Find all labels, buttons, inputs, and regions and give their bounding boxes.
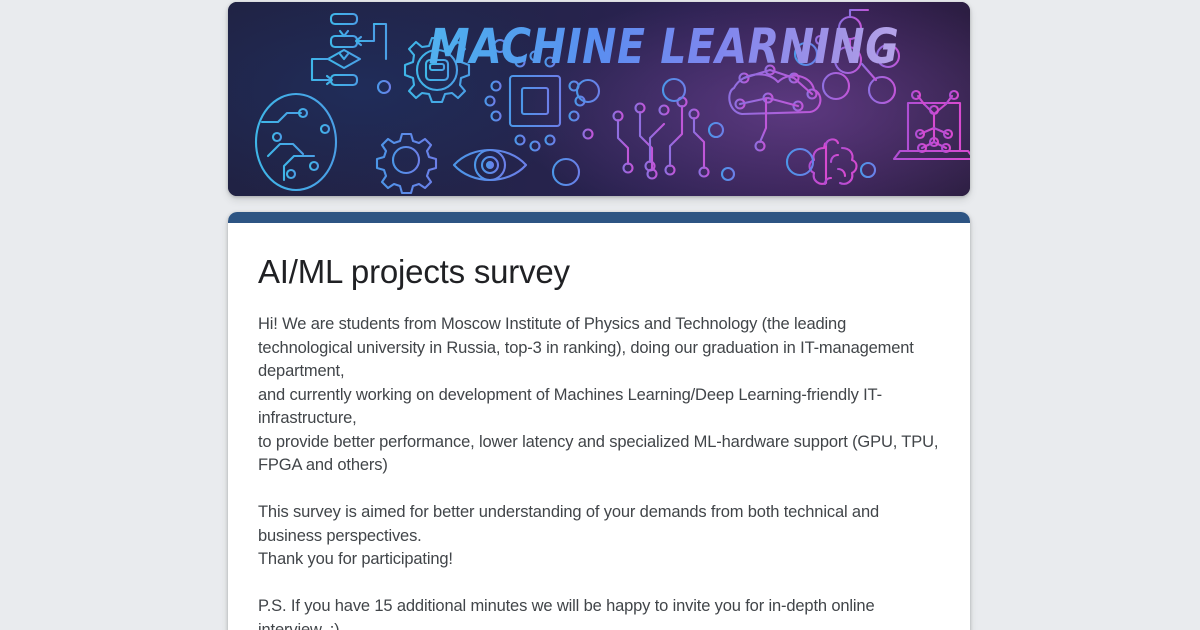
page-title: AI/ML projects survey [258, 251, 940, 293]
page-stage: MACHINE LEARNING AI/ML projects survey H… [0, 0, 1200, 630]
circuit-trace-icon [584, 98, 709, 179]
banner-background: MACHINE LEARNING [228, 2, 970, 196]
laptop-neural-network-icon [894, 91, 970, 159]
brain-icon [810, 139, 857, 187]
google-form-card: AI/ML projects survey Hi! We are student… [228, 212, 970, 630]
gear-icon [377, 134, 436, 193]
eye-scan-icon [454, 150, 526, 180]
banner-headline: MACHINE LEARNING [228, 18, 970, 75]
form-header-banner: MACHINE LEARNING [228, 2, 970, 196]
network-globe-icon [256, 94, 336, 190]
form-card-body: AI/ML projects survey Hi! We are student… [228, 223, 970, 630]
form-accent-bar [228, 212, 970, 223]
form-description: Hi! We are students from Moscow Institut… [258, 313, 940, 630]
neural-map-icon [729, 66, 820, 151]
